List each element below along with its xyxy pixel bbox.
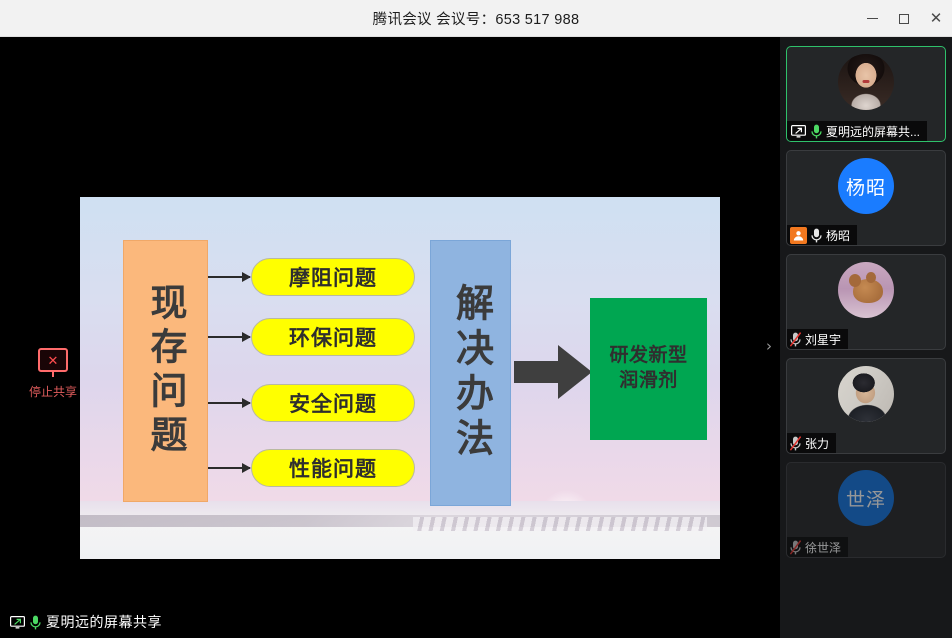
screen-share-icon [10,616,25,629]
avatar-initials: 杨昭 [846,173,886,200]
participant-tile[interactable]: 张力 [786,358,946,454]
window-title: 腾讯会议 会议号：653 517 988 [373,8,580,29]
avatar [838,366,894,422]
shared-slide: 现存问题 摩阻问题 环保问题 安全问题 性能问题 解决办法 研发新型 润滑剂 [80,197,720,559]
diagram-problem-item: 环保问题 [251,318,415,356]
mic-muted-icon [790,540,801,555]
diagram-problems-label: 现存问题 [147,283,184,459]
stop-share-x-glyph: ✕ [48,354,59,367]
participant-label: 夏明远的屏幕共... [787,121,927,141]
diagram-problems-box: 现存问题 [123,240,208,502]
diagram-solution-label: 解决办法 [452,283,490,463]
diagram-problem-item: 摩阻问题 [251,258,415,296]
close-icon: ✕ [930,11,943,26]
diagram-result-line2: 润滑剂 [619,369,678,394]
diagram-arrow-2 [208,336,250,338]
participant-label: 徐世泽 [787,537,848,557]
mic-on-green-icon [811,124,822,139]
participant-name: 徐世泽 [805,539,841,556]
participant-tile[interactable]: 世泽 徐世泽 [786,462,946,558]
collapse-panel-chevron-icon[interactable]: › [760,324,778,368]
participant-name: 刘星宇 [805,331,841,348]
diagram-arrow-3 [208,402,250,404]
diagram-result-line1: 研发新型 [609,344,687,369]
diagram-solution-box: 解决办法 [430,240,511,506]
participant-label: 刘星宇 [787,329,848,349]
avatar-initials: 世泽 [846,485,886,512]
monitor-stop-icon: ✕ [38,348,68,372]
stop-share-button[interactable]: ✕ 停止共享 [22,337,84,411]
avatar [838,262,894,318]
mic-on-icon [30,615,41,630]
participant-rail[interactable]: 夏明远的屏幕共... 杨昭 杨昭 [780,37,952,638]
shared-screen-stage: ✕ 停止共享 现存问题 摩阻问题 环保问题 安全问题 性能问题 解决办法 研发新… [0,37,780,638]
screen-share-icon [790,123,807,140]
avatar: 世泽 [838,470,894,526]
avatar [838,54,894,110]
mic-on-icon [811,228,822,243]
thick-right-arrow-icon [514,342,592,402]
slide-background-rocks [413,517,707,531]
share-status-bar: 夏明远的屏幕共享 [0,606,780,638]
participant-tile[interactable]: 夏明远的屏幕共... [786,46,946,142]
host-person-icon [790,227,807,244]
participant-name: 夏明远的屏幕共... [826,123,920,140]
mic-muted-icon [790,332,801,347]
diagram-arrow-4 [208,467,250,469]
maximize-button[interactable] [888,0,920,37]
stop-share-label: 停止共享 [29,383,77,400]
minimize-icon [867,18,878,19]
maximize-icon [899,14,909,24]
diagram-result-box: 研发新型 润滑剂 [590,298,707,440]
participant-name: 杨昭 [826,227,850,244]
diagram-problem-item: 性能问题 [251,449,415,487]
window-controls: ✕ [856,0,952,37]
participant-label: 张力 [787,433,836,453]
diagram-problem-item: 安全问题 [251,384,415,422]
diagram-arrow-1 [208,276,250,278]
participant-name: 张力 [805,435,829,452]
title-bar: 腾讯会议 会议号：653 517 988 ✕ [0,0,952,37]
minimize-button[interactable] [856,0,888,37]
participant-tile[interactable]: 刘星宇 [786,254,946,350]
close-button[interactable]: ✕ [920,0,952,37]
mic-muted-icon [790,436,801,451]
share-status-text: 夏明远的屏幕共享 [46,612,162,632]
avatar: 杨昭 [838,158,894,214]
participant-tile[interactable]: 杨昭 杨昭 [786,150,946,246]
participant-label: 杨昭 [787,225,857,245]
